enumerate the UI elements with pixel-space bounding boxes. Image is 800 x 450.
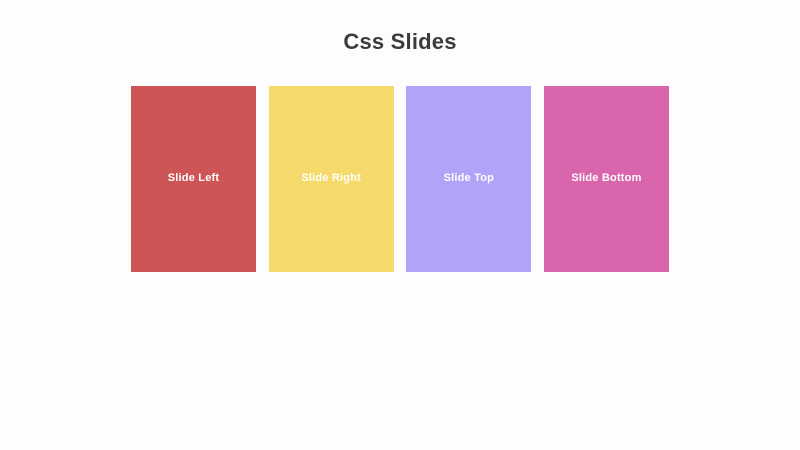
slide-card-label: Slide Left xyxy=(131,171,256,185)
slide-card-top[interactable]: Slide Top xyxy=(406,86,531,272)
page-title: Css Slides xyxy=(0,29,800,55)
slide-card-left[interactable]: Slide Left xyxy=(131,86,256,272)
slide-card-label: Slide Right xyxy=(269,171,394,185)
slide-card-right[interactable]: Slide Right xyxy=(269,86,394,272)
slide-card-label: Slide Bottom xyxy=(544,171,669,185)
slide-card-bottom[interactable]: Slide Bottom xyxy=(544,86,669,272)
page-root: Css Slides Slide Left Slide Right Slide … xyxy=(0,0,800,450)
slides-row: Slide Left Slide Right Slide Top Slide B… xyxy=(131,86,669,272)
slide-card-label: Slide Top xyxy=(406,171,531,185)
